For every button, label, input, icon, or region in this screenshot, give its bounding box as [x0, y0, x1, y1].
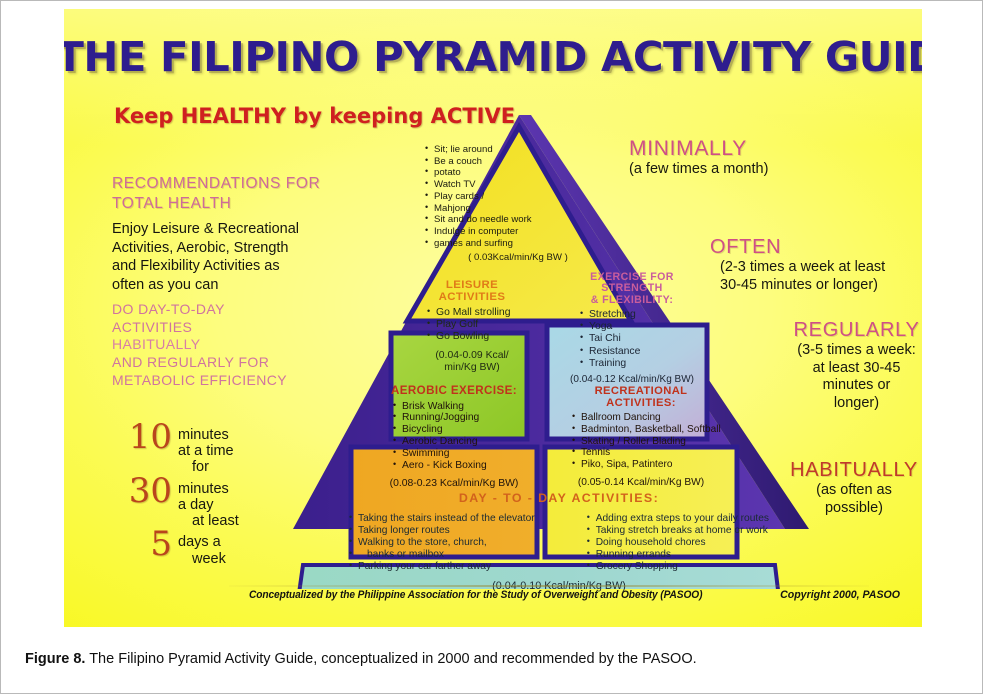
tier-kcal-recreation: (0.05-0.14 Kcal/min/Kg BW) — [560, 477, 722, 489]
credit-line: Conceptualized by the Philippine Associa… — [249, 589, 702, 601]
list-item: Indulge in computer — [425, 226, 611, 238]
tier-list-aerobic: Brisk Walking Running/Jogging Bicycling … — [393, 401, 543, 473]
tier-content-minimal: Sit; lie around Be a couch potato Watch … — [425, 141, 611, 263]
list-item: Watch TV — [425, 179, 611, 191]
list-item: Walking to the store, church, — [349, 537, 535, 549]
tier-heading-leisure: LEISURE ACTIVITIES — [401, 279, 543, 304]
list-item-continuation: potato — [425, 167, 611, 179]
minutes-text-line: for — [178, 459, 234, 475]
list-item: Be a couch — [425, 156, 611, 168]
tier-list-leisure: Go Mall strolling Play Golf Go Bowling — [427, 307, 543, 343]
tier-list-strength: Stretching Yoga Tai Chi Resistance Train… — [580, 309, 704, 369]
list-item: Swimming — [393, 448, 543, 460]
minutes-row: 10 minutes at a time for — [116, 422, 306, 476]
list-item: Taking longer routes — [349, 525, 535, 537]
list-item: Stretching — [580, 309, 704, 321]
tier-list-minimal: Sit; lie around Be a couch potato Watch … — [425, 144, 611, 249]
tier-content-leisure: LEISURE ACTIVITIES Go Mall strolling Pla… — [397, 274, 547, 374]
day-to-day-columns: Taking the stairs instead of the elevato… — [313, 510, 805, 572]
minutes-text-line: at least — [178, 513, 239, 529]
list-item: Resistance — [580, 346, 704, 358]
list-item-continuation: Training — [580, 358, 704, 370]
list-item: Aero - Kick Boxing — [393, 460, 543, 472]
tier-content-day-to-day: DAY - TO - DAY ACTIVITIES: Taking the st… — [313, 492, 805, 592]
tier-list-day-left: Taking the stairs instead of the elevato… — [349, 513, 535, 572]
tier-content-strength: EXERCISE FOR STRENGTH & FLEXIBILITY: Str… — [556, 267, 708, 385]
list-item: Aerobic Dancing — [393, 436, 543, 448]
list-item: Play Golf — [427, 319, 543, 331]
tier-content-aerobic: AEROBIC EXERCISE: Brisk Walking Running/… — [361, 381, 547, 490]
minutes-guidance-block: 10 minutes at a time for 30 minutes a da… — [116, 422, 306, 567]
list-item: Bicycling — [393, 424, 543, 436]
tier-list-recreation: Ballroom Dancing Badminton, Basketball, … — [572, 412, 722, 471]
tier-heading-day-to-day: DAY - TO - DAY ACTIVITIES: — [313, 492, 805, 505]
figure-caption-label: Figure 8. — [25, 651, 85, 667]
tier-kcal-leisure: (0.04-0.09 Kcal/ min/Kg BW) — [401, 350, 543, 374]
tier-heading-line: & FLEXIBILITY: — [560, 295, 704, 306]
tier-list-day-right: Adding extra steps to your daily routes … — [587, 513, 769, 572]
minutes-text-line: at a time — [178, 443, 234, 459]
tier-kcal-aerobic: (0.08-0.23 Kcal/min/Kg BW) — [365, 478, 543, 490]
figure-frame: THE FILIPINO PYRAMID ACTIVITY GUIDE Keep… — [0, 0, 983, 694]
list-item: Play cards / — [425, 191, 611, 203]
minutes-text-line: minutes — [178, 481, 239, 497]
list-item: Yoga — [580, 321, 704, 333]
list-item: Grocery Shopping — [587, 561, 769, 573]
list-item-continuation: banks or mailbox — [349, 549, 535, 561]
list-item: Badminton, Basketball, Softball — [572, 424, 722, 436]
minutes-number: 10 — [116, 422, 178, 453]
tier-content-recreation: RECREATIONAL ACTIVITIES: Ballroom Dancin… — [556, 381, 726, 488]
list-item: Skating / Roller Blading — [572, 436, 722, 448]
figure-caption-text: The Filipino Pyramid Activity Guide, con… — [85, 651, 696, 667]
activity-pyramid: Sit; lie around Be a couch potato Watch … — [279, 109, 839, 589]
list-item: Parking your car farther away — [349, 561, 535, 573]
tier-heading-line: ACTIVITIES — [401, 291, 543, 303]
minutes-text: minutes a day at least — [178, 476, 239, 530]
minutes-row: 30 minutes a day at least — [116, 476, 306, 530]
list-item: Adding extra steps to your daily routes — [587, 513, 769, 525]
tier-heading-strength: EXERCISE FOR STRENGTH & FLEXIBILITY: — [560, 272, 704, 306]
tier-heading-recreation: RECREATIONAL ACTIVITIES: — [560, 385, 722, 409]
tier-heading-line: ACTIVITIES: — [560, 397, 722, 409]
page-title: THE FILIPINO PYRAMID ACTIVITY GUIDE — [64, 33, 922, 81]
list-item: Piko, Sipa, Patintero — [572, 459, 722, 471]
list-item: Tai Chi — [580, 333, 704, 345]
minutes-text-line: a day — [178, 497, 239, 513]
activity-guide-poster: THE FILIPINO PYRAMID ACTIVITY GUIDE Keep… — [64, 9, 922, 627]
tier-heading-line: LEISURE — [401, 279, 543, 291]
tier-heading-aerobic: AEROBIC EXERCISE: — [365, 385, 543, 398]
list-item: Taking stretch breaks at home or work — [587, 525, 769, 537]
minutes-number: 5 — [116, 529, 178, 560]
list-item: Sit and do needle work — [425, 214, 611, 226]
minutes-text: minutes at a time for — [178, 422, 234, 476]
list-item: Brisk Walking — [393, 401, 543, 413]
list-item-continuation: games and surfing — [425, 238, 611, 250]
footer-divider — [229, 585, 869, 587]
list-item: Doing household chores — [587, 537, 769, 549]
figure-caption: Figure 8. The Filipino Pyramid Activity … — [25, 651, 955, 667]
list-item: Taking the stairs instead of the elevato… — [349, 513, 535, 525]
list-item: Sit; lie around — [425, 144, 611, 156]
list-item: Ballroom Dancing — [572, 412, 722, 424]
copyright-line: Copyright 2000, PASOO — [780, 589, 900, 601]
minutes-number: 30 — [116, 476, 178, 507]
tier-kcal-minimal: ( 0.03Kcal/min/Kg BW ) — [425, 252, 611, 263]
list-item-continuation: Mahjong — [425, 203, 611, 215]
poster-footer: Conceptualized by the Philippine Associa… — [64, 589, 922, 611]
list-item: Running errands — [587, 549, 769, 561]
tier-kcal-line: min/Kg BW) — [401, 362, 543, 374]
minutes-text: days a week — [178, 529, 226, 566]
list-item: Go Bowling — [427, 331, 543, 343]
list-item: Running/Jogging — [393, 412, 543, 424]
tier-kcal-line: (0.04-0.09 Kcal/ — [401, 350, 543, 362]
minutes-text-line: week — [178, 551, 226, 567]
list-item: Go Mall strolling — [427, 307, 543, 319]
minutes-text-line: minutes — [178, 427, 234, 443]
tier-heading-line: RECREATIONAL — [560, 385, 722, 397]
minutes-text-line: days a — [178, 534, 226, 550]
minutes-row: 5 days a week — [116, 529, 306, 566]
list-item: Tennis — [572, 447, 722, 459]
